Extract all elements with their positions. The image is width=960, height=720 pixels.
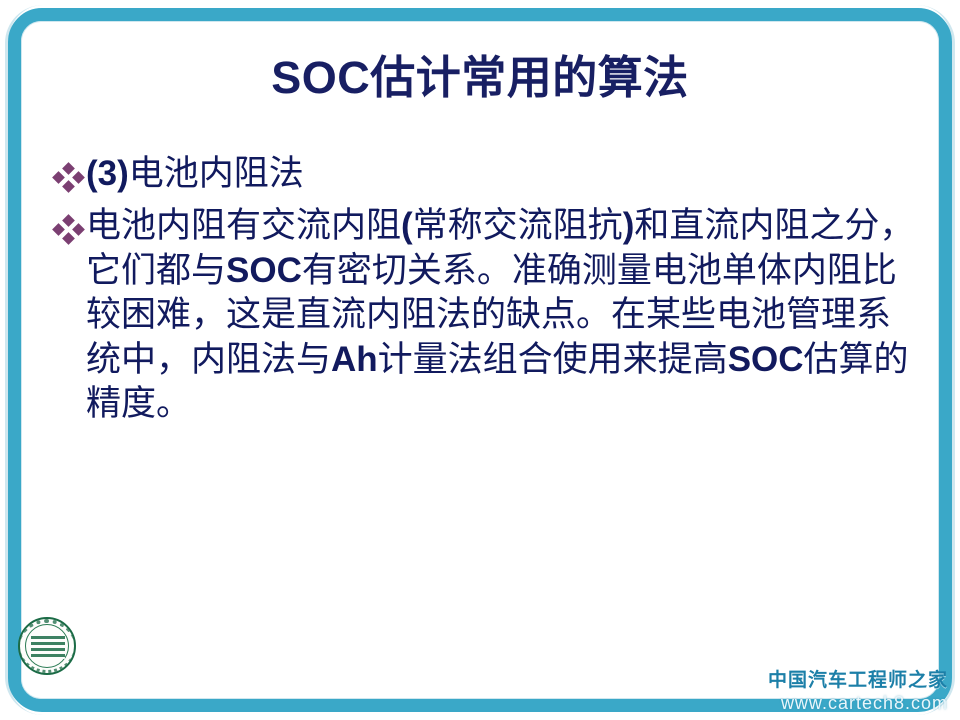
list-item: 电池内阻有交流内阻(常称交流阻抗)和直流内阻之分，它们都与SOC有密切关系。准确… [52,204,918,426]
bullet-1-segment-1: 电池内阻法 [129,154,304,193]
bullet-2-segment-9: SOC [728,340,804,379]
bullet-2-segment-2: 常称交流阻抗 [413,206,623,245]
bullet-2-segment-7: Ah [331,340,378,379]
bullet-list: (3)电池内阻法 电池内阻有交流内阻(常称交流阻抗)和直流内阻之分，它们都与SO… [52,152,918,427]
bullet-1-segment-0: (3) [86,154,129,193]
bullet-text-1: (3)电池内阻法 [86,152,918,196]
title-cjk-part: 估计常用的算法 [370,53,689,103]
bullet-2-segment-8: 计量法组合使用来提高 [378,340,728,379]
list-item: (3)电池内阻法 [52,152,918,196]
watermark-site-name: 中国汽车工程师之家 [768,670,948,692]
watermark: 中国汽车工程师之家 www.cartech8.com [768,670,948,714]
diamond-cluster-bullet-icon [52,152,86,192]
bullet-2-segment-5: SOC [226,251,302,290]
diamond-cluster-bullet-icon [52,204,86,244]
title-latin-part: SOC [271,52,370,103]
bullet-text-2: 电池内阻有交流内阻(常称交流阻抗)和直流内阻之分，它们都与SOC有密切关系。准确… [86,204,918,426]
bullet-2-segment-0: 电池内阻有交流内阻 [86,206,401,245]
watermark-site-url: www.cartech8.com [768,693,948,714]
bullet-2-segment-1: ( [401,206,413,245]
bullet-2-segment-3: ) [623,206,635,245]
slide-canvas: SOC估计常用的算法 (3)电池内阻法 电池内阻有交流内阻(常称交流阻抗)和直流… [0,0,960,720]
organization-seal-icon [18,617,76,675]
slide-title: SOC估计常用的算法 [60,52,900,105]
